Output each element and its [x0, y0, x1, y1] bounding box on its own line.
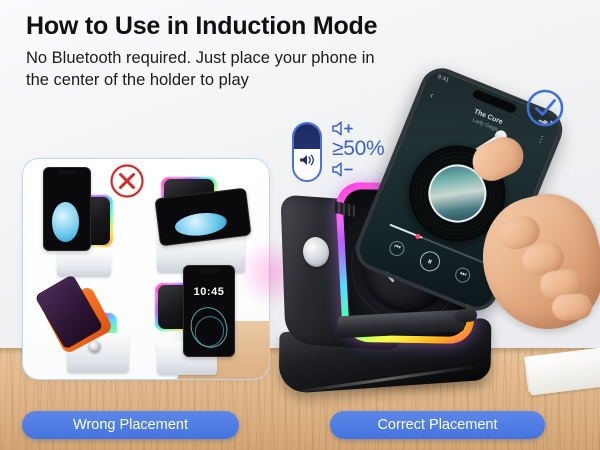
check-circle-icon: [523, 86, 567, 130]
hand: [456, 134, 600, 339]
phone-mock: 10:45: [183, 265, 235, 357]
wrong-placement-panel: 10:45: [22, 158, 270, 380]
progress-handle[interactable]: [415, 233, 422, 240]
lock-screen-time: 10:45: [184, 286, 234, 298]
volume-indicator: ≥50%: [292, 122, 410, 184]
page-subtitle: No Bluetooth required. Just place your p…: [26, 48, 396, 92]
volume-slider-fill: [294, 124, 320, 149]
volume-level-label: ≥50%: [332, 138, 412, 159]
wrong-example-phone-offset-high: [39, 167, 117, 277]
volume-slider[interactable]: [292, 122, 322, 182]
phone-notch: [199, 268, 220, 273]
illustration-stage: How to Use in Induction Mode No Bluetoot…: [0, 0, 600, 450]
play-pause-button[interactable]: ⏸: [417, 248, 443, 274]
wrong-example-phone-thick-case: [41, 271, 145, 375]
badge-wrong-placement[interactable]: Wrong Placement: [22, 411, 239, 439]
volume-labels: ≥50%: [332, 120, 412, 177]
volume-down-icon: [332, 161, 412, 177]
previous-track-button[interactable]: ⏮: [387, 238, 407, 258]
x-circle-icon: [108, 162, 146, 200]
badge-correct-placement[interactable]: Correct Placement: [330, 411, 545, 439]
phone-notch: [57, 170, 76, 175]
volume-up-icon: [332, 120, 412, 136]
speaker-icon: [299, 153, 315, 166]
status-time: 9:41: [436, 74, 449, 85]
phone-mock: [43, 167, 91, 251]
index-finger: [467, 131, 530, 187]
finger-edge: [551, 293, 593, 322]
page-title: How to Use in Induction Mode: [26, 12, 546, 41]
